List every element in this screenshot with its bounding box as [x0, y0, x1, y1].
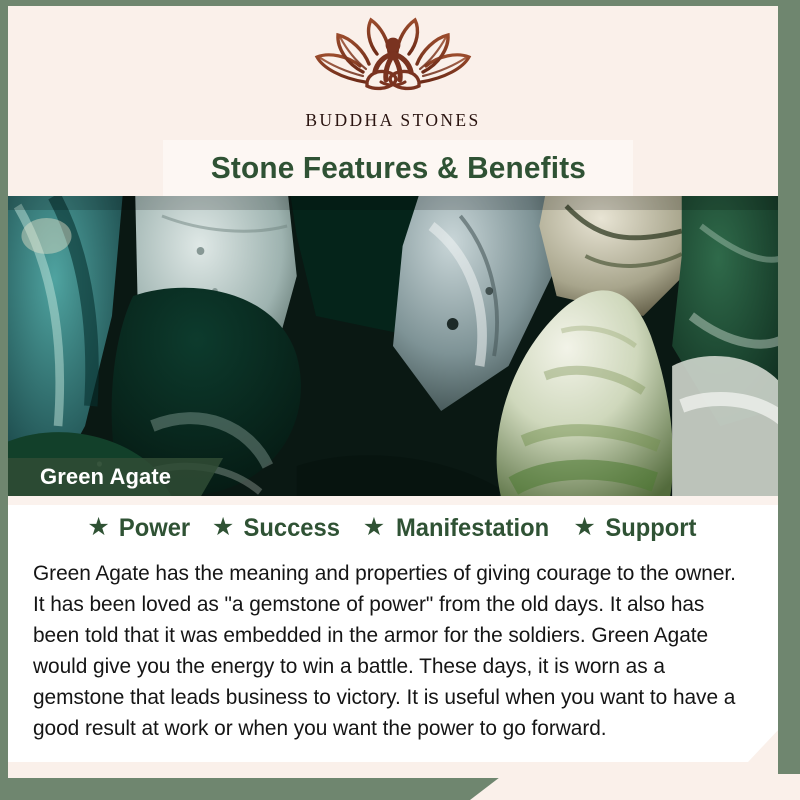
benefit-success: ★ Success — [212, 514, 343, 543]
benefit-label: Manifestation — [396, 514, 549, 543]
stone-photo: Green Agate — [8, 196, 778, 496]
page-title-plate: Stone Features & Benefits — [163, 140, 633, 196]
star-icon: ★ — [212, 515, 234, 540]
panel-top-strip — [8, 496, 778, 505]
page-frame: BUDDHA STONES Stone Features & Benefits — [0, 0, 800, 800]
stone-description: Green Agate has the meaning and properti… — [33, 558, 745, 744]
benefit-support: ★ Support — [573, 514, 698, 543]
green-agate-stones-illustration — [8, 196, 778, 496]
details-panel: ★ Power ★ Success ★ Manifestation ★ Supp… — [8, 496, 778, 762]
benefit-label: Success — [244, 514, 340, 543]
header: BUDDHA STONES Stone Features & Benefits — [8, 6, 778, 196]
star-icon: ★ — [573, 515, 595, 540]
brand-name: BUDDHA STONES — [305, 110, 480, 131]
lotus-meditation-logo-icon — [307, 16, 479, 108]
benefit-label: Power — [119, 514, 190, 543]
benefits-row: ★ Power ★ Success ★ Manifestation ★ Supp… — [8, 514, 778, 543]
star-icon: ★ — [87, 515, 109, 540]
brand-block: BUDDHA STONES — [8, 16, 778, 131]
benefit-power: ★ Power — [87, 514, 191, 543]
star-icon: ★ — [363, 515, 385, 540]
stone-name-tag: Green Agate — [8, 458, 223, 496]
benefit-manifestation: ★ Manifestation — [363, 514, 554, 543]
benefit-label: Support — [605, 514, 696, 543]
content-card: BUDDHA STONES Stone Features & Benefits — [8, 6, 778, 778]
page-title: Stone Features & Benefits — [210, 150, 585, 186]
stone-name-label: Green Agate — [40, 464, 171, 490]
bottom-right-wedge — [470, 774, 800, 800]
